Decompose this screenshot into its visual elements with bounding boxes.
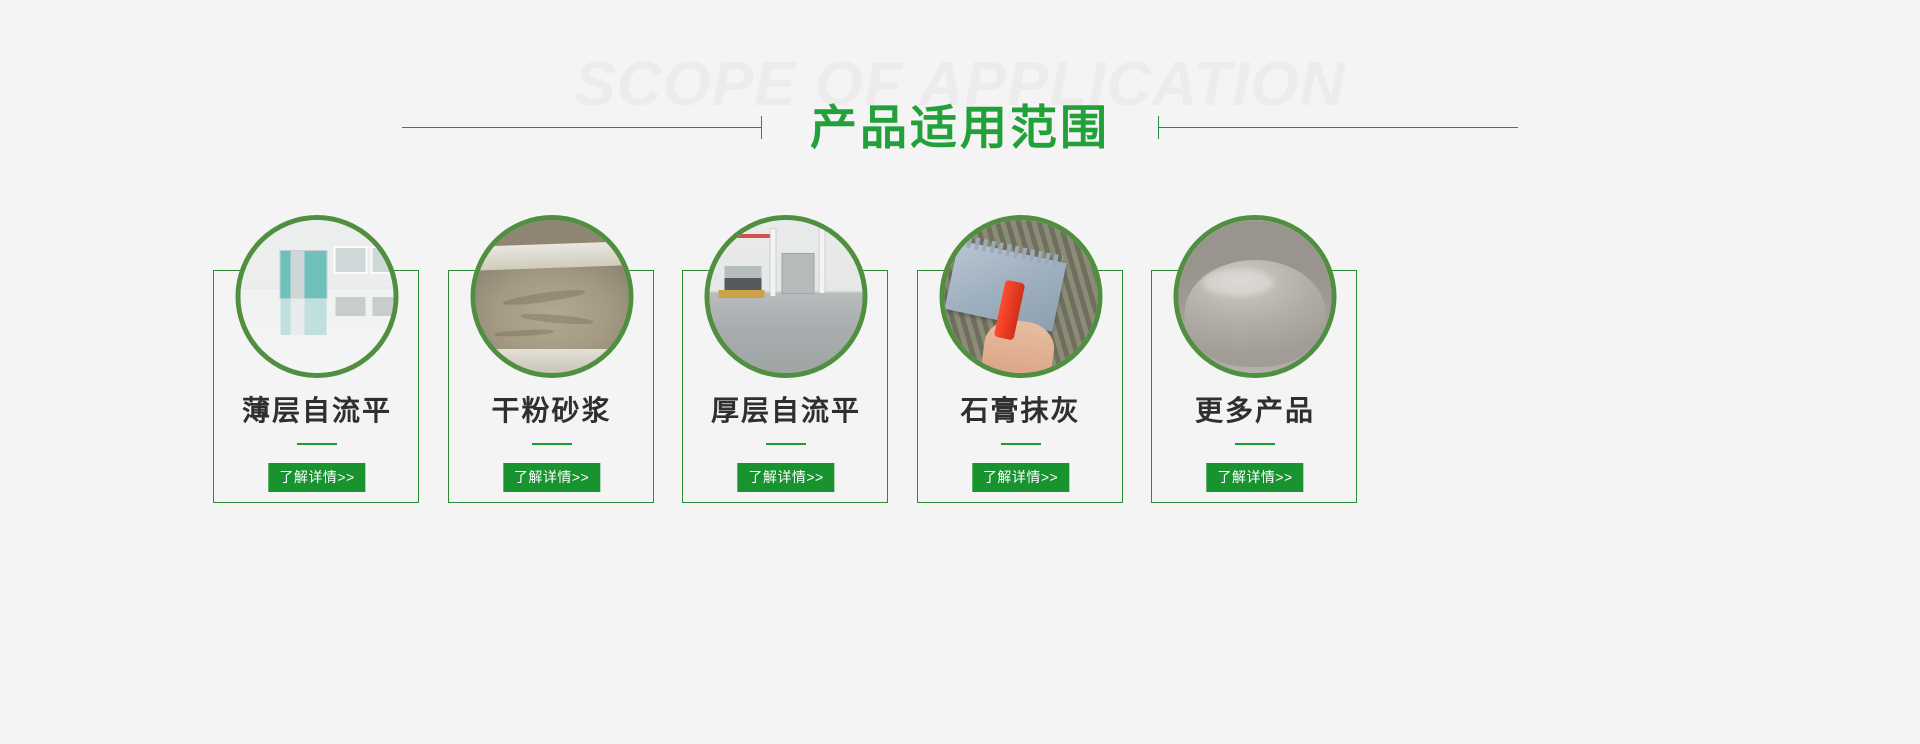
more-products-photo — [1174, 215, 1337, 378]
card-title: 薄层自流平 — [213, 397, 421, 425]
card-divider — [766, 443, 806, 445]
section-header: SCOPE OF APPLICATION 产品适用范围 — [0, 0, 1920, 210]
learn-more-button[interactable]: 了解详情>> — [972, 463, 1069, 492]
title-rule-left — [402, 127, 762, 128]
product-card-list: 薄层自流平 了解详情>> 干粉砂浆 了解详情>> — [213, 215, 1359, 515]
card-divider — [1235, 443, 1275, 445]
page-title: 产品适用范围 — [762, 104, 1158, 151]
dry-powder-mortar-photo — [470, 215, 633, 378]
title-rule-right — [1158, 127, 1518, 128]
card-divider — [297, 443, 337, 445]
product-card-more-products[interactable]: 更多产品 了解详情>> — [1151, 215, 1359, 505]
learn-more-button[interactable]: 了解详情>> — [268, 463, 365, 492]
card-title: 干粉砂浆 — [448, 397, 656, 425]
product-card-thick-self-leveling[interactable]: 厚层自流平 了解详情>> — [682, 215, 890, 505]
card-title: 更多产品 — [1151, 397, 1359, 425]
gypsum-plastering-trowel-photo — [939, 215, 1102, 378]
learn-more-button[interactable]: 了解详情>> — [1206, 463, 1303, 492]
product-card-thin-self-leveling[interactable]: 薄层自流平 了解详情>> — [213, 215, 421, 505]
learn-more-button[interactable]: 了解详情>> — [737, 463, 834, 492]
card-title: 石膏抹灰 — [917, 397, 1125, 425]
thick-self-leveling-floor-photo — [705, 215, 868, 378]
section-title-row: 产品适用范围 — [0, 104, 1920, 151]
card-title: 厚层自流平 — [682, 397, 890, 425]
card-divider — [532, 443, 572, 445]
product-card-gypsum-plastering[interactable]: 石膏抹灰 了解详情>> — [917, 215, 1125, 505]
scope-of-application-section: SCOPE OF APPLICATION 产品适用范围 薄层自流平 了解详情>> — [0, 0, 1920, 744]
learn-more-button[interactable]: 了解详情>> — [503, 463, 600, 492]
product-card-dry-powder-mortar[interactable]: 干粉砂浆 了解详情>> — [448, 215, 656, 505]
card-divider — [1001, 443, 1041, 445]
thin-self-leveling-floor-photo — [236, 215, 399, 378]
